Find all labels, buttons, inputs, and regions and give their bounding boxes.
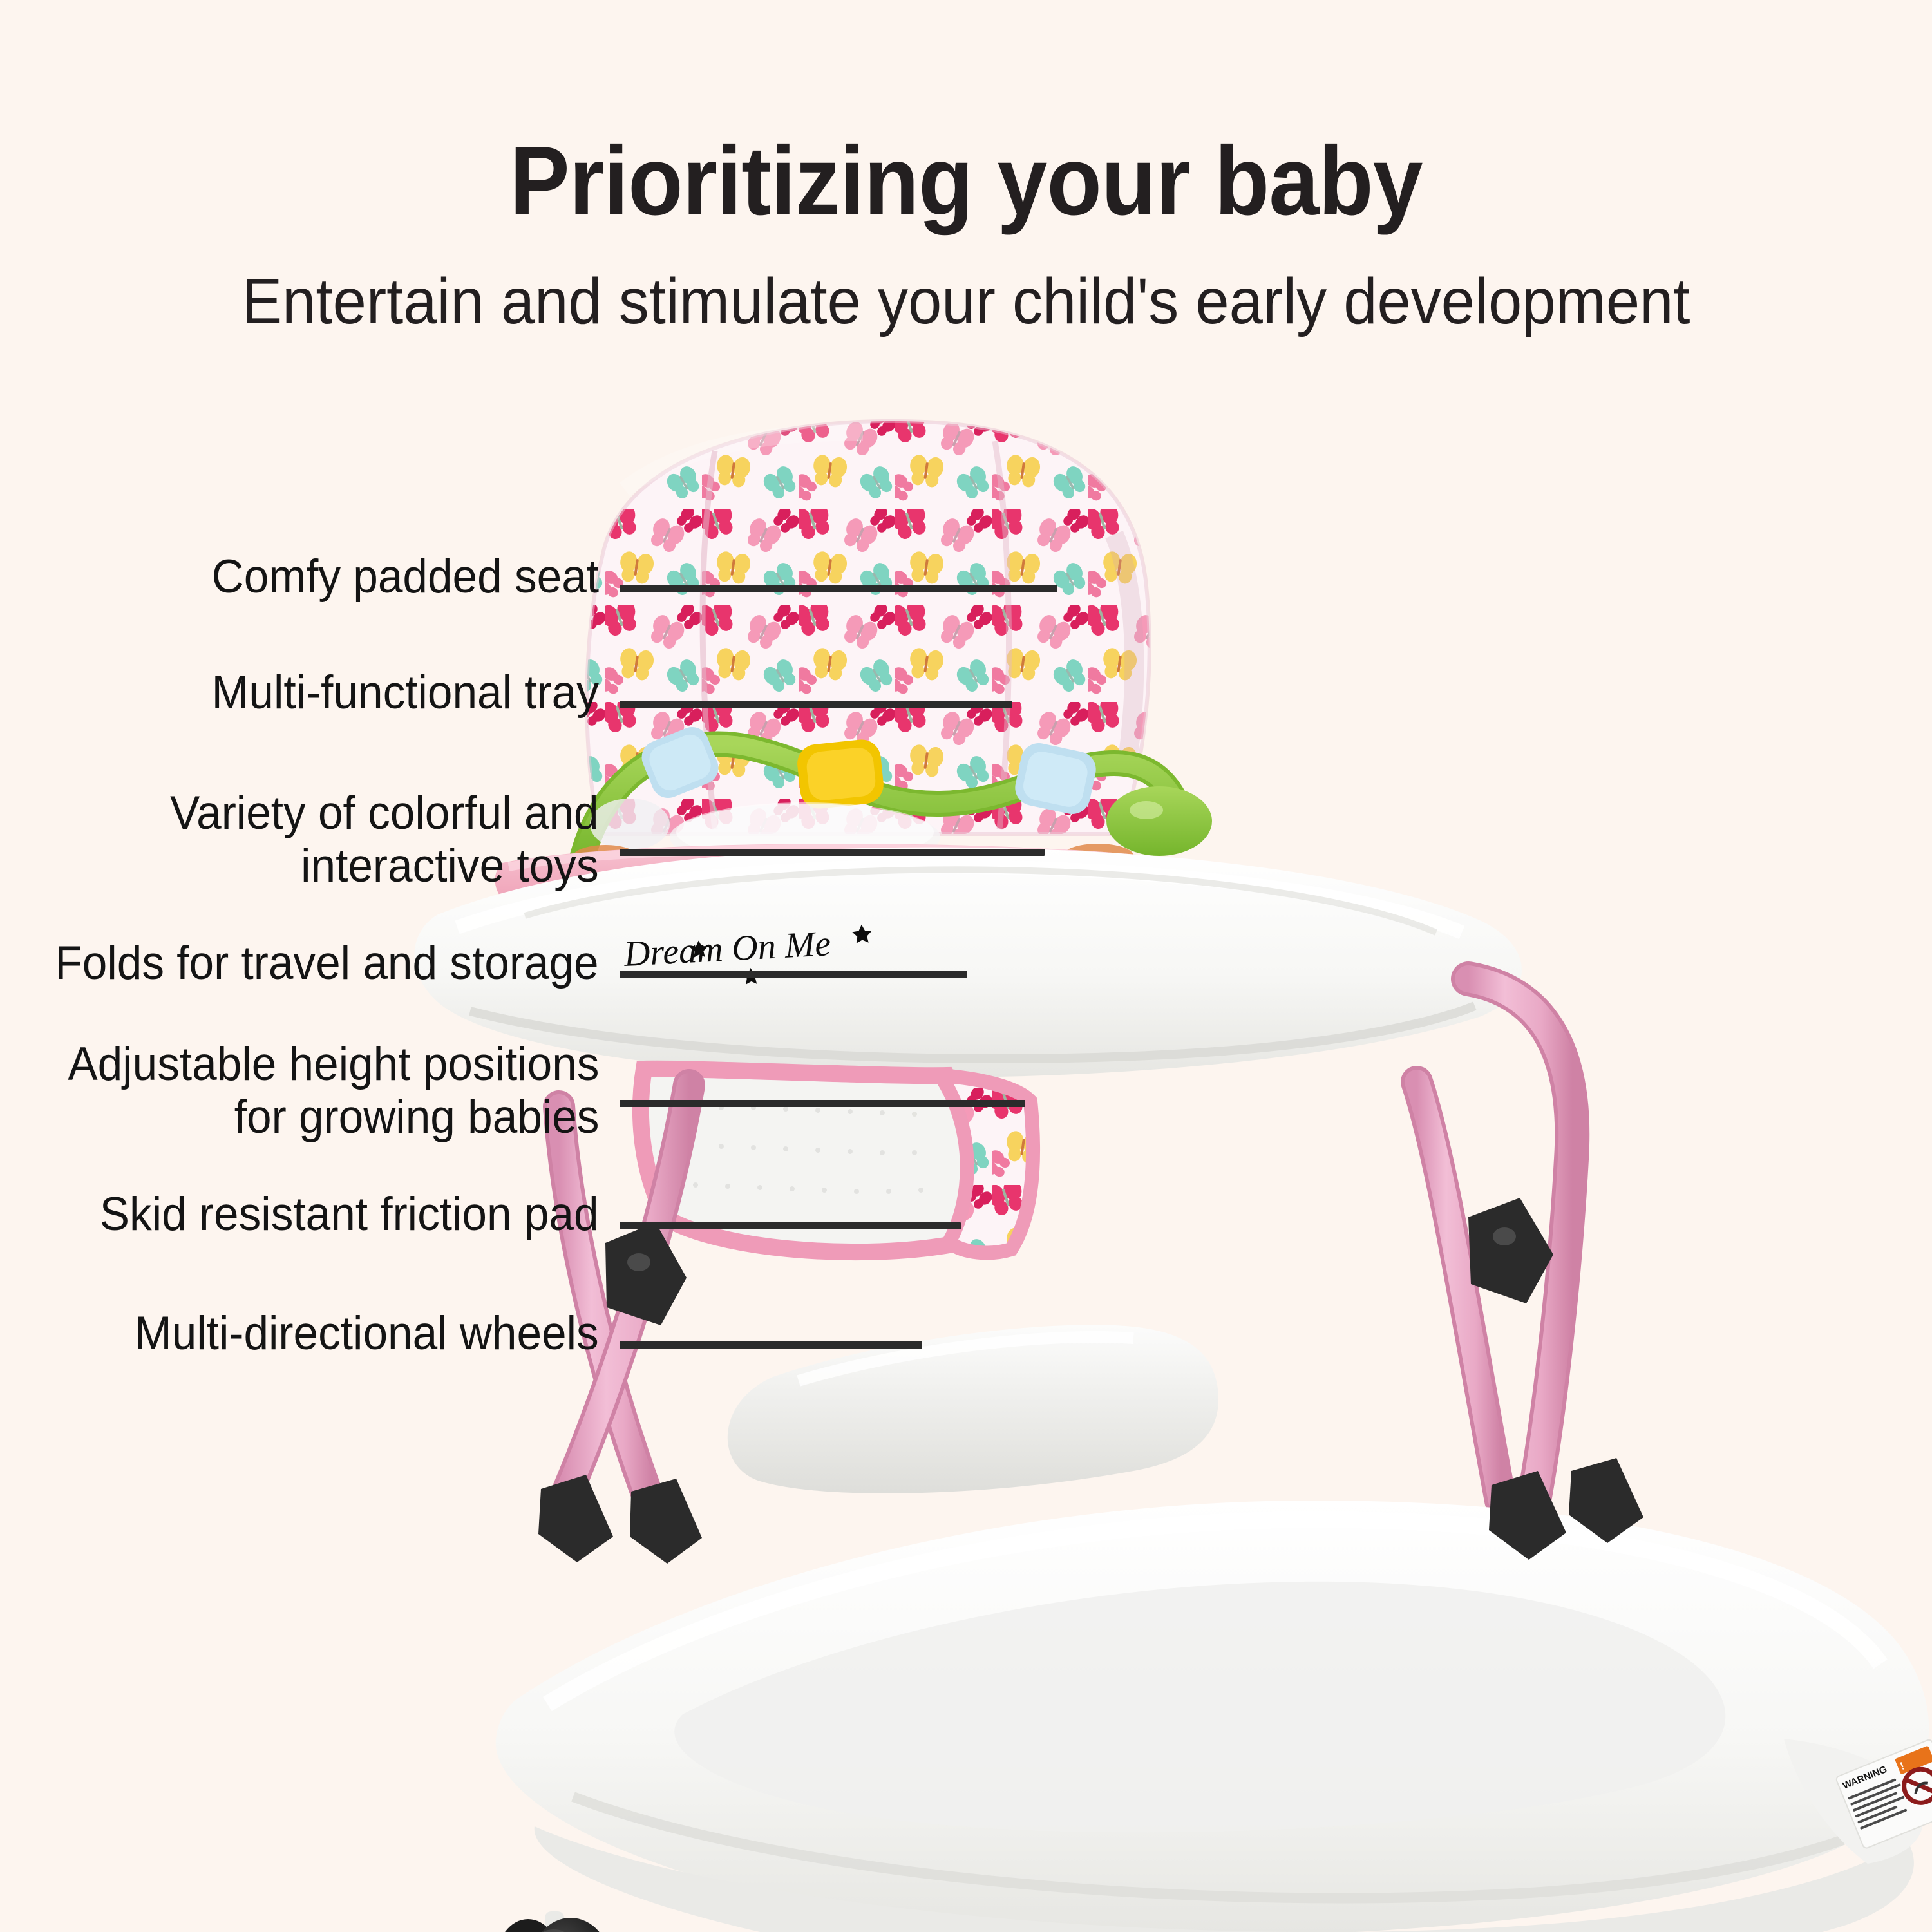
feature-label-multi-directional-wheels: Multi-directional wheels bbox=[135, 1307, 599, 1360]
walker-base bbox=[496, 1325, 1929, 1932]
leader-line-folds-for-travel bbox=[620, 971, 967, 978]
product-illustration: Dream On Me bbox=[412, 412, 1932, 1932]
feature-label-comfy-padded-seat: Comfy padded seat bbox=[212, 551, 599, 603]
feature-label-adjustable-height: Adjustable height positions for growing … bbox=[68, 1038, 599, 1144]
leader-line-adjustable-height bbox=[620, 1100, 1025, 1107]
toy-bead-yellow bbox=[795, 737, 885, 810]
feature-label-folds-for-travel: Folds for travel and storage bbox=[55, 937, 599, 990]
leader-line-multi-directional-wheels bbox=[620, 1341, 922, 1349]
leader-line-interactive-toys bbox=[620, 849, 1045, 856]
page-subtitle: Entertain and stimulate your child's ear… bbox=[58, 269, 1874, 334]
leader-line-skid-resistant-pad bbox=[620, 1222, 961, 1229]
page-title: Prioritizing your baby bbox=[77, 132, 1855, 230]
feature-label-interactive-toys: Variety of colorful and interactive toys bbox=[170, 787, 599, 893]
feature-label-multi-functional-tray: Multi-functional tray bbox=[212, 667, 599, 719]
leader-line-multi-functional-tray bbox=[620, 701, 1012, 708]
infographic-canvas: Prioritizing your baby Entertain and sti… bbox=[0, 0, 1932, 1932]
feature-label-skid-resistant-pad: Skid resistant friction pad bbox=[100, 1188, 599, 1241]
green-toy bbox=[1106, 786, 1212, 856]
leader-line-comfy-padded-seat bbox=[620, 585, 1057, 592]
